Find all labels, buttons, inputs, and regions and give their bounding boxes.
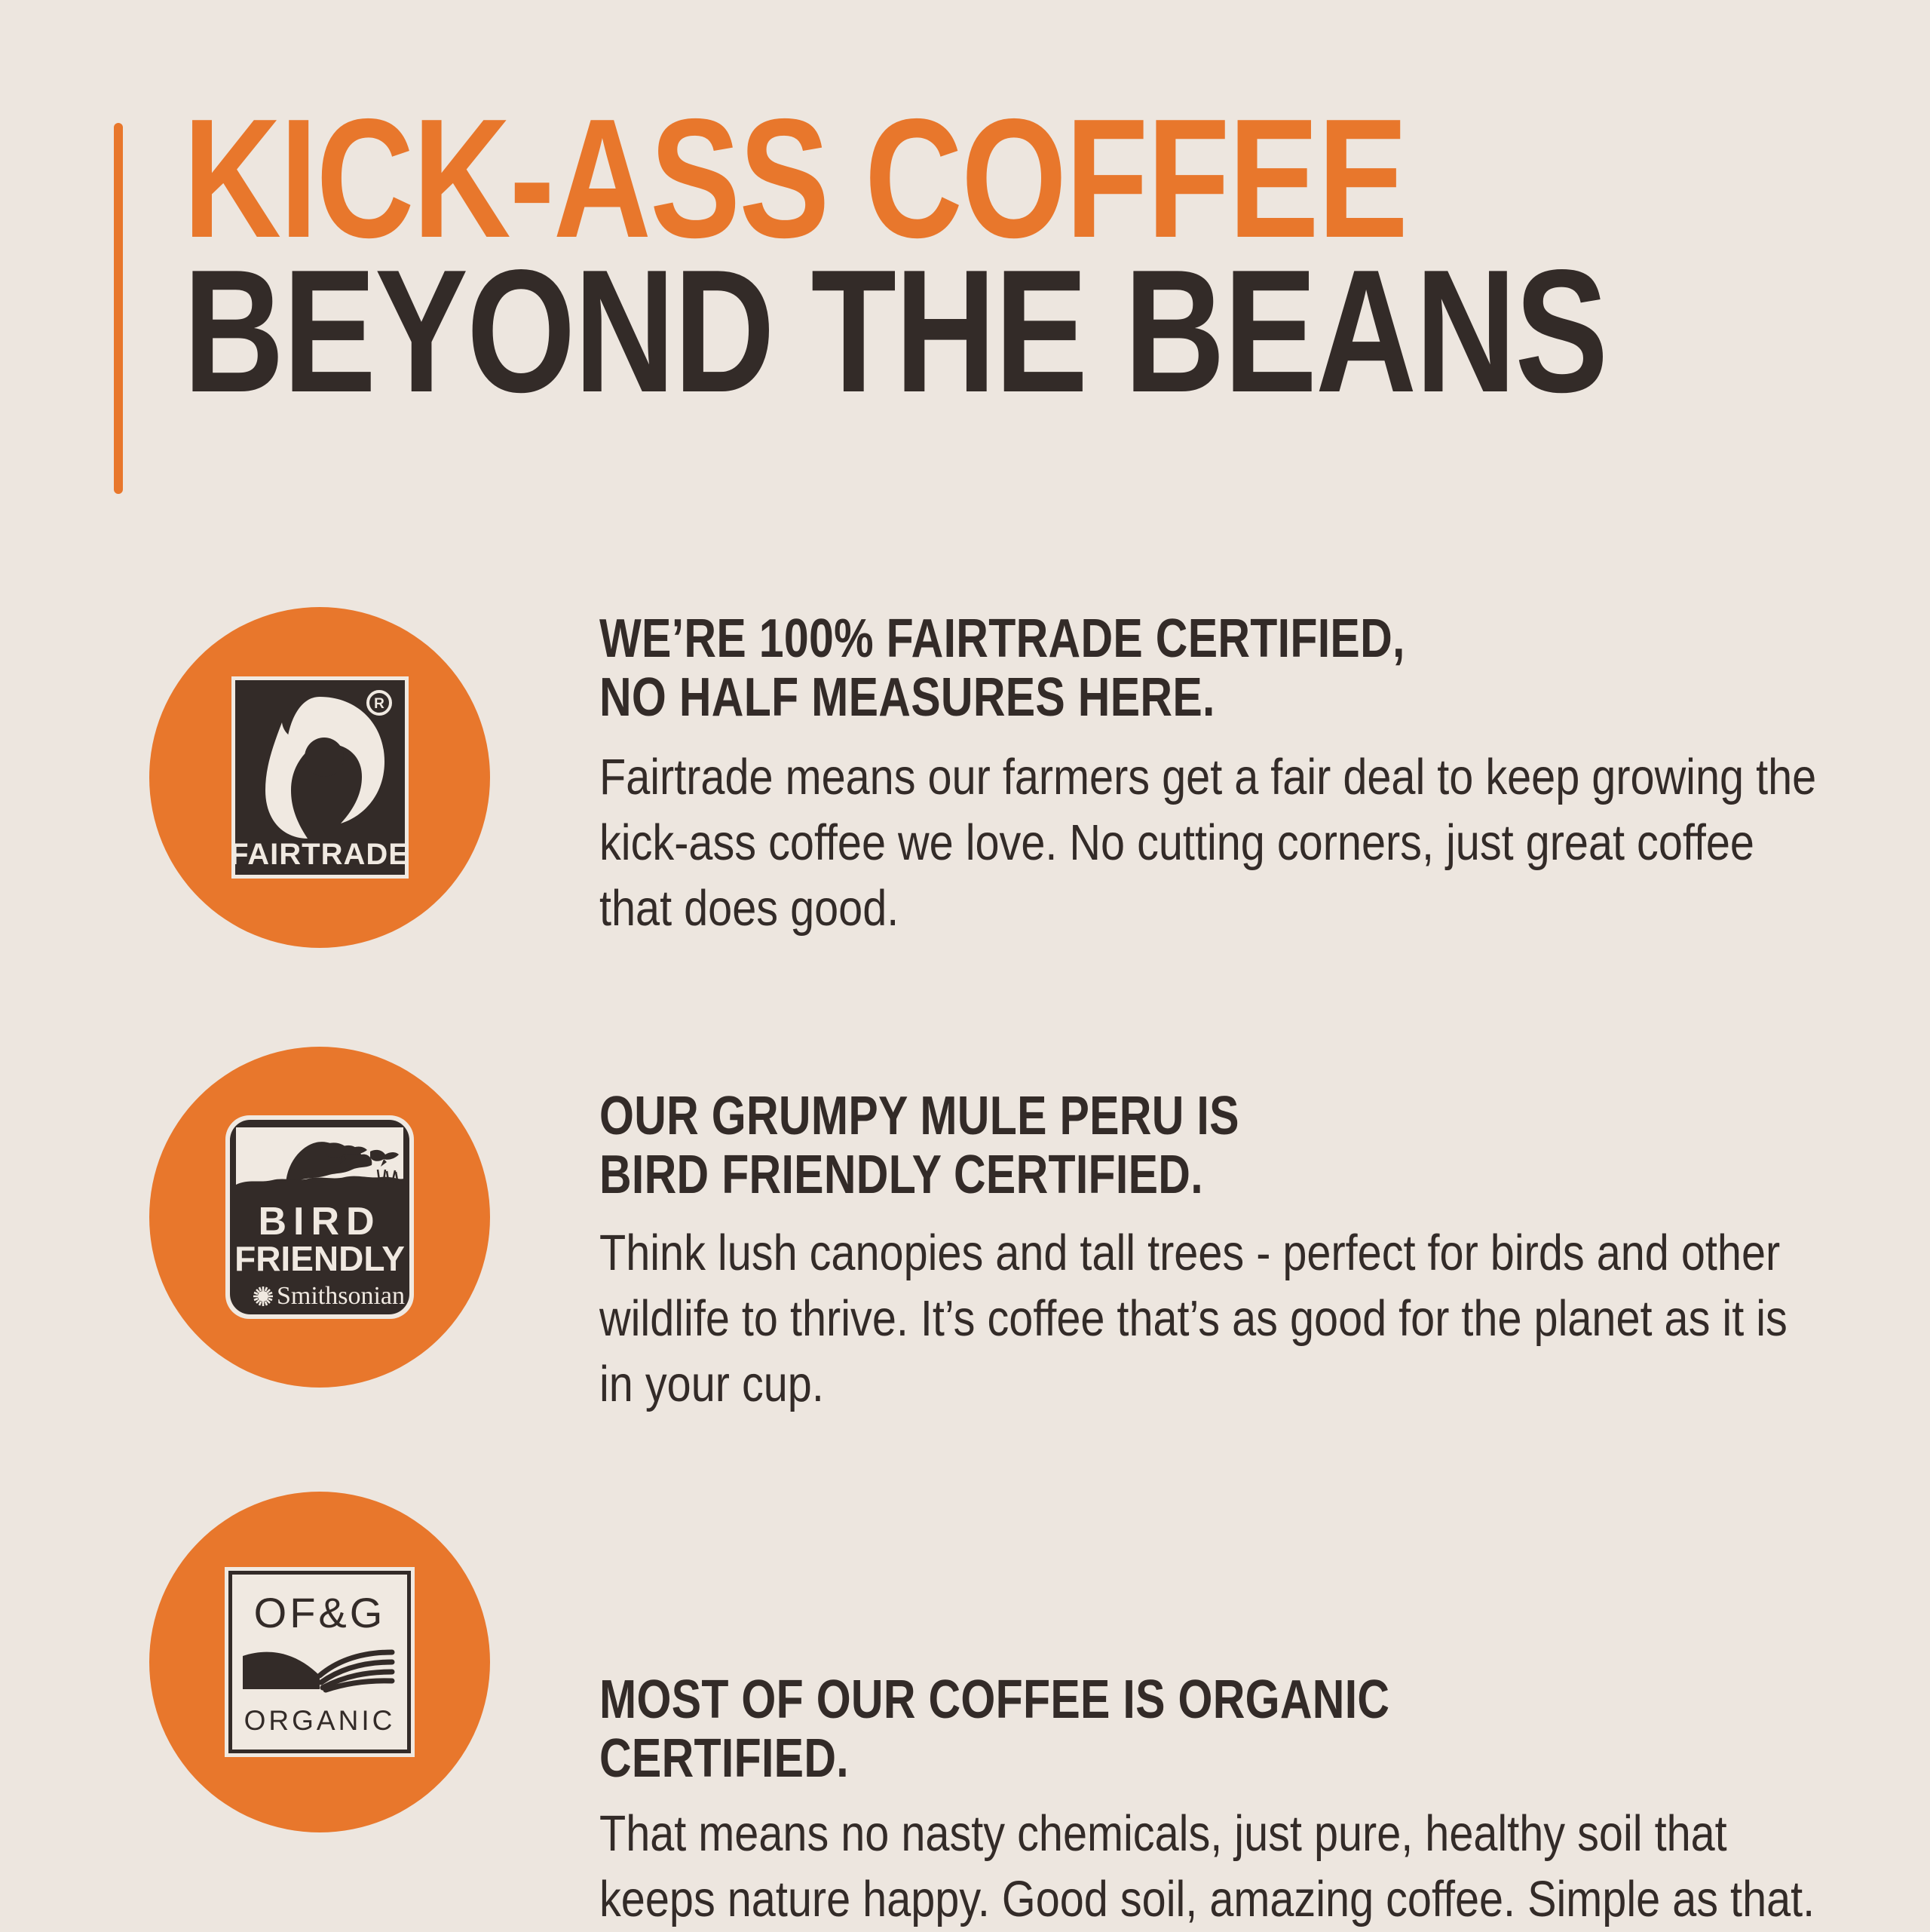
fairtrade-icon: R FAIRTRADE [231,676,409,879]
svg-text:OF&G: OF&G [254,1589,386,1636]
svg-text:FAIRTRADE: FAIRTRADE [235,838,405,871]
row-text-fairtrade: WE’RE 100% FAIRTRADE CERTIFIED, NO HALF … [599,607,1836,941]
row-heading: OUR GRUMPY MULE PERU IS BIRD FRIENDLY CE… [599,1087,1613,1205]
svg-text:BIRD: BIRD [258,1200,381,1244]
orange-accent-bar [114,123,123,494]
row-body: That means no nasty chemicals, just pure… [599,1801,1831,1932]
fairtrade-glyph: R FAIRTRADE [235,680,405,875]
row-heading: WE’RE 100% FAIRTRADE CERTIFIED, NO HALF … [599,610,1613,728]
page-title: KICK-ASS COFFEE BEYOND THE BEANS [183,106,1842,406]
bird-friendly-icon: BIRD FRIENDLY [225,1115,414,1319]
badge-circle-organic: OF&G ORGANIC [149,1492,490,1832]
badge-circle-fairtrade: R FAIRTRADE [149,607,490,948]
certification-row-organic: OF&G ORGANIC MOST OF OUR COFFEE IS ORGAN… [0,1492,1930,1854]
ofg-organic-glyph: OF&G ORGANIC [232,1575,407,1750]
row-text-organic: MOST OF OUR COFFEE IS ORGANIC CERTIFIED.… [599,1492,1836,1932]
row-text-bird-friendly: OUR GRUMPY MULE PERU IS BIRD FRIENDLY CE… [599,1047,1836,1417]
certification-row-fairtrade: R FAIRTRADE WE’RE 100% FAIRTRADE CERTIFI… [0,607,1930,969]
badge-circle-bird-friendly: BIRD FRIENDLY [149,1047,490,1388]
title-line-secondary: BEYOND THE BEANS [183,256,1510,407]
svg-text:R: R [374,696,384,712]
svg-text:Smithsonian: Smithsonian [277,1282,405,1310]
header: KICK-ASS COFFEE BEYOND THE BEANS [0,0,1930,573]
row-heading: MOST OF OUR COFFEE IS ORGANIC CERTIFIED. [599,1671,1613,1789]
title-line-primary: KICK-ASS COFFEE [183,106,1510,252]
ofg-organic-icon: OF&G ORGANIC [225,1567,415,1757]
row-body: Think lush canopies and tall trees - per… [599,1220,1831,1417]
svg-text:ORGANIC: ORGANIC [244,1705,396,1736]
svg-text:FRIENDLY: FRIENDLY [234,1239,405,1278]
row-body: Fairtrade means our farmers get a fair d… [599,744,1831,941]
bird-friendly-glyph: BIRD FRIENDLY [230,1120,409,1314]
certification-row-bird-friendly: BIRD FRIENDLY [0,1047,1930,1409]
